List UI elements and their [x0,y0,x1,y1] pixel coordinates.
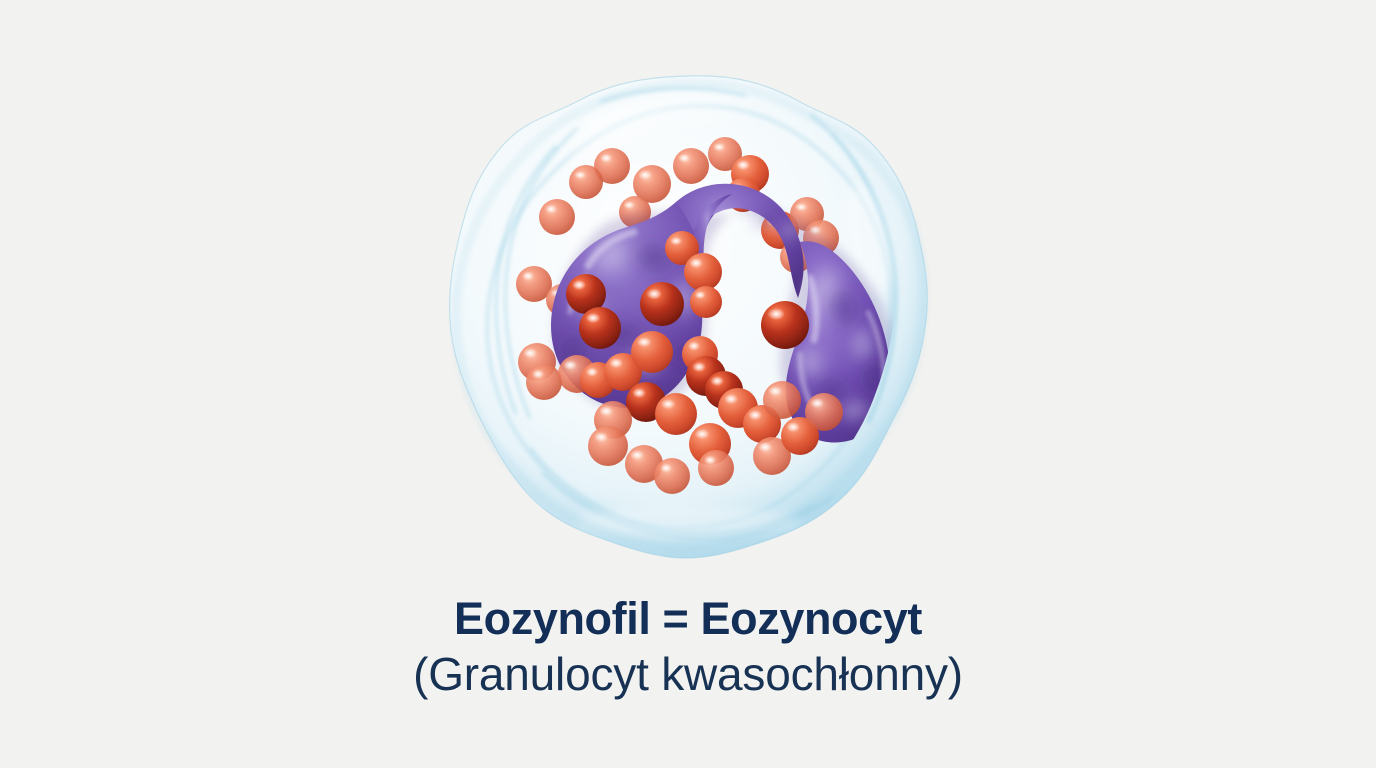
slide-canvas: Eozynofil = Eozynocyt (Granulocyt kwasoc… [0,0,1376,768]
caption-block: Eozynofil = Eozynocyt (Granulocyt kwasoc… [0,596,1376,697]
caption-subtitle: (Granulocyt kwasochłonny) [0,651,1376,697]
caption-title: Eozynofil = Eozynocyt [0,596,1376,641]
eosinophil-cell-illustration [438,62,938,562]
cell-svg [438,62,938,562]
